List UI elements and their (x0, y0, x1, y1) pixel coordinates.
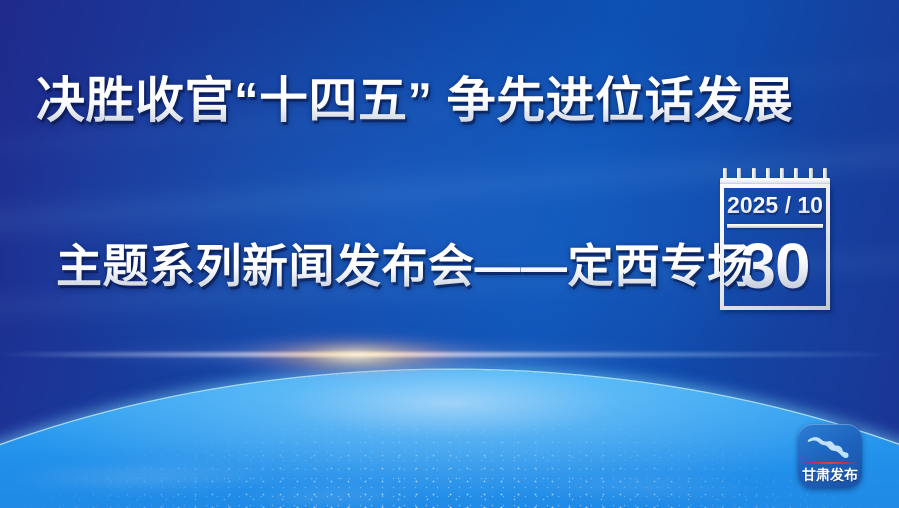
calendar-date-badge: 2025 / 10 30 (714, 168, 834, 316)
logo-red-rule (803, 462, 857, 464)
gansu-release-logo: 甘肃发布 (798, 424, 862, 488)
gansu-province-map-icon (805, 431, 855, 461)
calendar-divider (727, 224, 823, 228)
calendar-year-month: 2025 / 10 (720, 192, 830, 219)
calendar-day-number: 30 (720, 230, 830, 302)
poster-title-line-2: 主题系列新闻发布会——定西专场 (56, 238, 754, 294)
poster-title-line-1: 决胜收官“十四五” 争先进位话发展 (36, 72, 793, 130)
logo-label: 甘肃发布 (798, 466, 862, 484)
poster-canvas: 决胜收官“十四五” 争先进位话发展 主题系列新闻发布会——定西专场 2025 /… (0, 0, 899, 508)
lens-flare-core (205, 330, 505, 382)
cloud-wisps (0, 368, 899, 508)
